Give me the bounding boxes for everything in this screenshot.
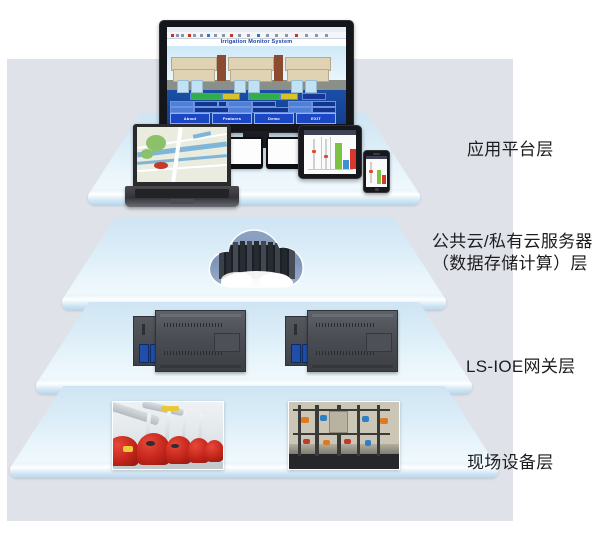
layer-label-ls-ioe-gateway: LS-IOE网关层 (466, 356, 575, 378)
shelf-lip-field-device (10, 463, 498, 478)
plc-vent-top (316, 323, 374, 327)
laptop-trackpad (170, 199, 194, 204)
pipe-header (293, 409, 390, 411)
floor-dark (289, 454, 399, 469)
valve-actuator (362, 416, 370, 422)
scada-button-demo[interactable]: Demo (254, 113, 294, 124)
pipe-run (357, 405, 360, 456)
phone-bar-a (377, 170, 381, 184)
phone-speaker (373, 153, 380, 155)
toolbar-icon[interactable] (238, 34, 241, 37)
scada-status-row (170, 93, 343, 99)
gate-pier (217, 55, 226, 81)
cloud-shape-icon (203, 221, 311, 293)
diagram-canvas: Irrigation Monitor System (0, 0, 612, 551)
gate-arch (234, 80, 246, 93)
plc-gateway-right (285, 310, 396, 370)
tablet (298, 125, 362, 179)
status-water-level (190, 93, 222, 100)
chart-bar-a (335, 143, 342, 169)
laptop-keyboard (135, 189, 229, 198)
secondary-monitor-left (228, 137, 263, 169)
vertical-pipe (165, 411, 172, 441)
plc-bottom-rail (160, 365, 241, 368)
status-value (280, 93, 298, 100)
phone-gauge (370, 162, 372, 183)
toolbar-icon[interactable] (305, 34, 308, 37)
scada-toolbar (167, 32, 346, 39)
toolbar-icon[interactable] (200, 34, 203, 37)
laptop-screen (137, 127, 227, 182)
gate-arch (291, 80, 303, 93)
tablet-chart (304, 135, 356, 174)
scada-button-about[interactable]: About (170, 113, 210, 124)
phone-bar-b (382, 175, 386, 184)
scada-button-row: About Features Demo EXIT (170, 113, 343, 122)
plc-body (155, 310, 246, 372)
secondary-monitor-right-screen (268, 139, 299, 164)
toolbar-icon[interactable] (222, 34, 225, 37)
chart-divider (321, 137, 322, 170)
gate-arch (305, 80, 317, 93)
pump-motor (171, 444, 179, 449)
toolbar-icon[interactable] (325, 34, 328, 37)
valve-body (323, 440, 330, 445)
valve-manifold-photo (288, 401, 400, 470)
toolbar-icon[interactable] (193, 34, 196, 37)
shelf-field-device (10, 386, 498, 468)
chart-bar-c (350, 149, 356, 169)
laptop (133, 124, 231, 186)
pipe-run (377, 405, 380, 456)
smartphone-screen (366, 156, 387, 187)
shelf-slab (36, 302, 472, 384)
plc-bottom-rail (312, 365, 393, 368)
chart-gauge (325, 139, 327, 169)
valve-body (303, 439, 310, 444)
scada-button-exit[interactable]: EXIT (296, 113, 336, 124)
toolbar-icon[interactable] (295, 34, 298, 37)
gate-arch (248, 80, 260, 93)
secondary-monitor-right (266, 137, 301, 169)
gate-pier (274, 55, 283, 81)
pump-motor (146, 441, 155, 446)
plc-display-window (214, 333, 240, 352)
gate-arch (191, 80, 203, 93)
status-alarm (302, 93, 326, 100)
laptop-base (125, 186, 239, 207)
plc-port-a (291, 344, 301, 363)
layer-label-cloud-server-line2: （数据存储计算）层 (432, 253, 588, 275)
desktop-monitor-screen: Irrigation Monitor System (167, 27, 346, 124)
secondary-monitor-left-screen (230, 139, 261, 164)
toolbar-icon[interactable] (247, 34, 250, 37)
tablet-screen (304, 130, 356, 174)
plc-led-strip (142, 324, 145, 335)
pump-unit (205, 440, 224, 463)
plc-gateway-left (133, 310, 244, 370)
plc-top-rail (160, 314, 241, 317)
cloud-datacenter (203, 221, 311, 293)
chart-bar-b (343, 160, 349, 169)
chart-divider (330, 137, 331, 170)
control-cabinet (329, 411, 349, 433)
scada-button-features[interactable]: Features (212, 113, 252, 124)
desktop-monitor: Irrigation Monitor System (159, 20, 354, 133)
toolbar-icon[interactable] (266, 34, 269, 37)
status-value (222, 93, 240, 100)
scada-application: Irrigation Monitor System (167, 27, 346, 124)
plc-top-rail (312, 314, 393, 317)
toolbar-icon[interactable] (315, 34, 318, 37)
pump-station-photo (112, 401, 224, 470)
shelf-slab (10, 386, 498, 468)
crane-beam (161, 406, 179, 411)
plc-vent-top (164, 323, 222, 327)
pump-badge (123, 446, 133, 452)
valve-body (365, 440, 372, 445)
plc-led-strip (294, 324, 297, 335)
pipe-run (315, 405, 318, 456)
smartphone (363, 150, 390, 193)
toolbar-icon[interactable] (176, 34, 179, 37)
scada-title: Irrigation Monitor System (167, 39, 346, 45)
toolbar-icon[interactable] (214, 34, 217, 37)
shelf-ls-ioe-gateway (36, 302, 472, 384)
map-road (137, 163, 227, 171)
pump-station-image (113, 402, 223, 469)
valve-actuator (301, 417, 309, 423)
layer-label-cloud-server-line1: 公共云/私有云服务器 (432, 231, 593, 253)
valve-actuator (380, 418, 388, 424)
gate-arch (177, 80, 189, 93)
laptop-map-view (137, 127, 227, 182)
plc-display-window (366, 333, 392, 352)
layer-label-application-platform: 应用平台层 (467, 139, 554, 161)
chart-gauge (313, 139, 315, 169)
toolbar-icon[interactable] (285, 34, 288, 37)
phone-home-button[interactable] (375, 188, 379, 191)
vertical-pipe (198, 413, 203, 441)
plc-port-a (139, 344, 149, 363)
toolbar-icon[interactable] (181, 34, 184, 37)
plc-body (307, 310, 398, 372)
map-green-area (141, 149, 154, 159)
toolbar-icon[interactable] (171, 34, 174, 37)
layer-label-field-device: 现场设备层 (467, 452, 554, 474)
map-road (171, 127, 182, 182)
valve-manifold-image (289, 402, 399, 469)
pipe-run (298, 405, 301, 456)
toolbar-icon[interactable] (230, 34, 233, 37)
toolbar-icon[interactable] (275, 34, 278, 37)
toolbar-icon[interactable] (257, 34, 260, 37)
toolbar-icon[interactable] (188, 34, 191, 37)
phone-app-header (366, 156, 387, 159)
toolbar-icon[interactable] (207, 34, 210, 37)
status-stream-flow (248, 93, 280, 100)
valve-body (344, 439, 351, 444)
